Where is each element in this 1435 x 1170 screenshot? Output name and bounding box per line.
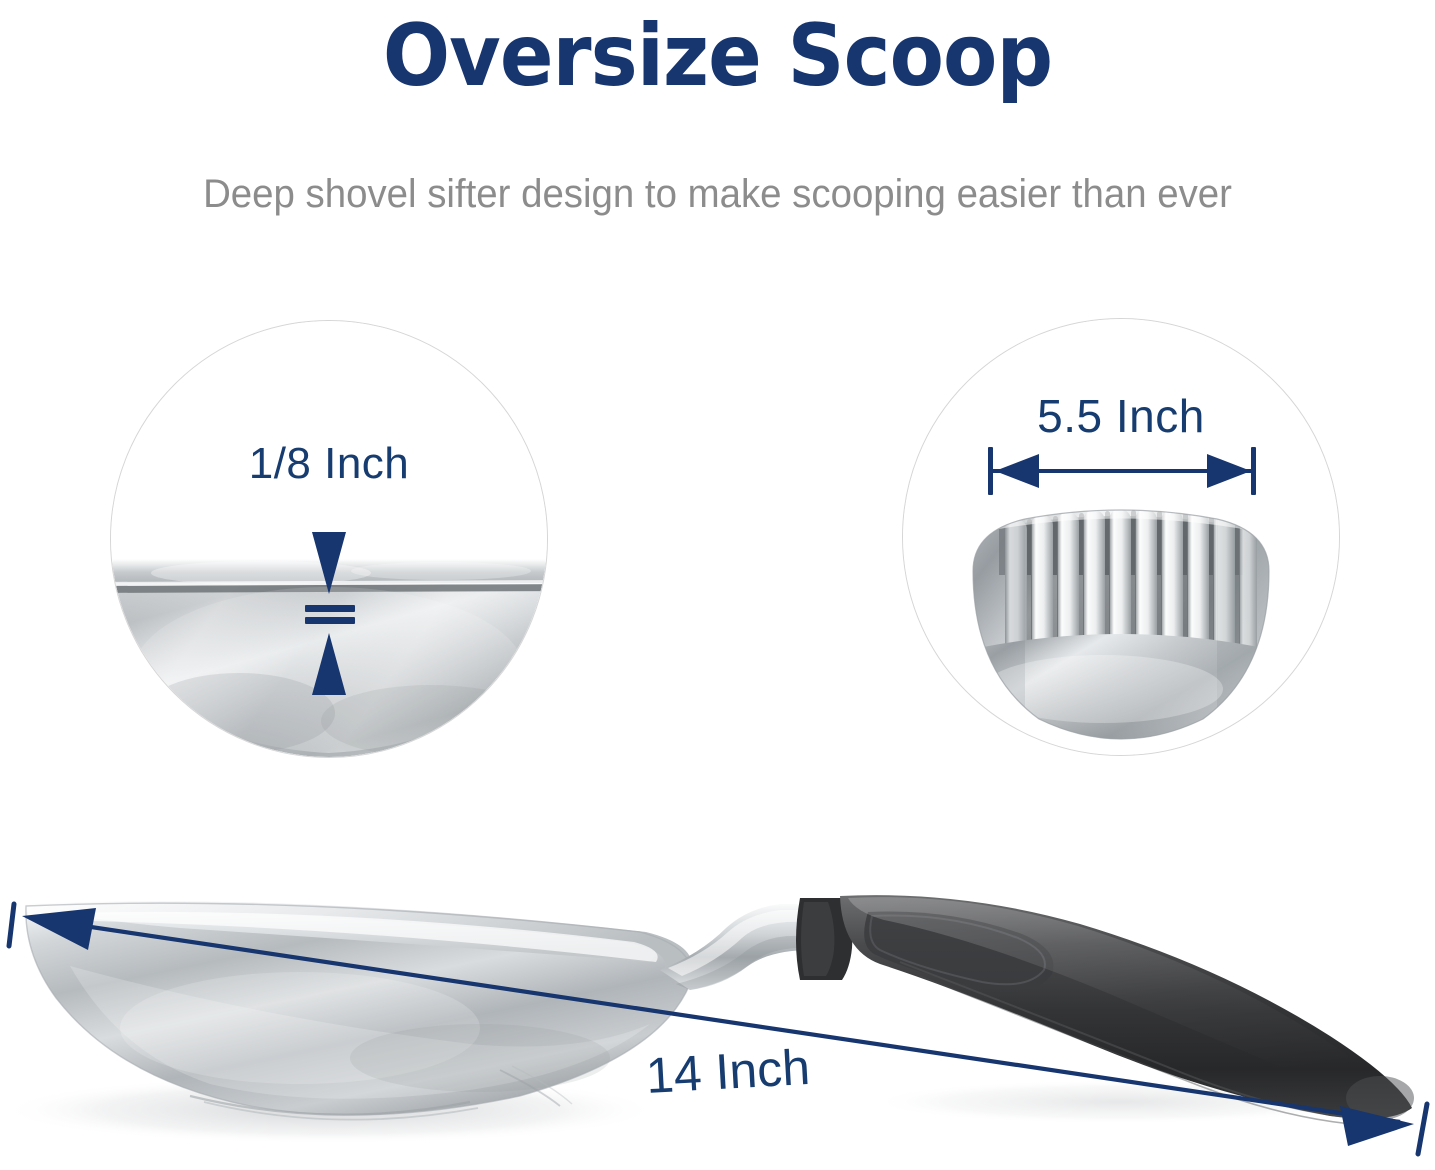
product-photo [0,858,1435,1170]
width-label: 5.5 Inch [903,391,1339,441]
caliper-top-triangle-icon [312,532,346,594]
dimension-arrowhead-left-icon [995,454,1039,488]
page-subtitle: Deep shovel sifter design to make scoopi… [29,168,1407,220]
dimension-arrowhead-right-icon [1207,454,1251,488]
length-label: 14 Inch [644,1039,811,1104]
thickness-label: 1/8 Inch [111,439,547,489]
caliper-upper-bar-icon [305,605,355,612]
caliper-bottom-triangle-icon [312,633,346,695]
slotted-sifter-bowl-image [903,319,1339,755]
caliper-lower-bar-icon [305,617,355,624]
inset-width: 5.5 Inch [902,318,1340,756]
inset-thickness: 1/8 Inch [110,320,548,758]
page-title: Oversize Scoop [57,6,1377,106]
infographic-canvas: Oversize Scoop Deep shovel sifter design… [0,0,1435,1170]
